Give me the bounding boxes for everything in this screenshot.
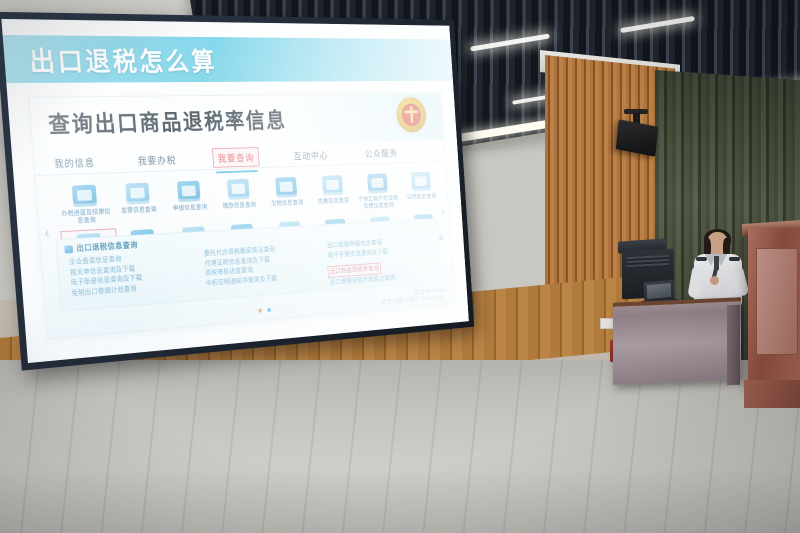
tab-4[interactable]: 公众服务 [360,144,401,162]
service-icon-label: 缴款信息查询 [216,200,263,210]
windows-activation-watermark: 激活 Windows 转到"设置"以激活 Windows。 [381,286,447,305]
service-icon-label: 优惠信息查询 [311,196,355,205]
presenter-hand [710,276,719,285]
service-icon-label: 欠税信息查询 [264,198,310,207]
floor [0,360,800,533]
service-item-0-1[interactable]: 发票信息查询 [111,179,166,217]
tab-0[interactable]: 我的信息 [49,152,100,172]
service-icon [227,179,250,200]
service-item-0-5[interactable]: 优惠信息查询 [309,172,357,207]
service-item-0-3[interactable]: 缴款信息查询 [213,175,264,211]
presenter-table [613,297,741,385]
wall-outlet [600,318,614,329]
sub-panel-column-0: 企业备案信息查询报关单信息查询及下载电子账册信息查询及下载免税出口卷烟计划查询 [67,250,197,308]
service-icon [126,183,151,205]
service-icon [72,185,97,207]
presenter-epaulette-right [729,257,740,261]
service-icon-label: 申报信息查询 [165,202,214,212]
service-icon [275,177,297,198]
service-icon-label: 办税进度及结果信息查询 [60,207,113,225]
page-title: 查询出口商品退税率信息 [47,103,287,140]
carousel-prev-arrow[interactable]: ‹ [43,224,51,244]
carousel-next-arrow[interactable]: › [440,204,446,221]
carousel-dot-0[interactable] [258,309,262,313]
podium-front-panel [756,248,798,355]
service-item-0-6[interactable]: 个体工商户社会保险费信息查询 [354,170,401,212]
service-item-0-0[interactable]: 办税进度及结果信息查询 [57,181,114,227]
conference-room-scene: 出口退税怎么算 查询出口商品退税率信息 我的信息我要办税我要查询互动中心公众服务… [0,0,800,533]
emblem-inner-mark [401,103,422,126]
tab-2[interactable]: 我要查询 [212,147,260,168]
portal-card: 查询出口商品退税率信息 我的信息我要办税我要查询互动中心公众服务 办税进度及结果… [28,93,455,340]
slide-banner: 出口退税怎么算 [3,35,453,83]
service-item-0-2[interactable]: 申报信息查询 [163,177,216,214]
tax-bureau-emblem-icon [395,97,427,132]
sub-panel-column-1: 委托代办退税备案情况查询代理证明信息查询及下载退税审核进度查询中标证明通知书查询… [202,242,321,297]
service-icon [367,173,388,193]
screen-surface: 出口退税怎么算 查询出口商品退税率信息 我的信息我要办税我要查询互动中心公众服务… [1,19,468,363]
folder-icon [64,245,73,253]
service-icon [177,181,201,203]
service-icon [410,172,430,192]
slide-content: 出口退税怎么算 查询出口商品退税率信息 我的信息我要办税我要查询互动中心公众服务… [1,19,468,363]
screen-frame: 出口退税怎么算 查询出口商品退税率信息 我的信息我要办税我要查询互动中心公众服务… [0,12,474,371]
service-icon-label: 证明状态查询 [401,192,443,201]
tab-3[interactable]: 互动中心 [289,145,333,163]
carousel-dot-1[interactable] [267,308,270,312]
tab-1[interactable]: 我要办税 [133,150,181,170]
service-item-0-7[interactable]: 证明状态查询 [398,169,443,203]
slide-banner-title: 出口退税怎么算 [28,40,218,79]
presenter-epaulette-left [696,257,707,261]
projection-screen: 出口退税怎么算 查询出口商品退税率信息 我的信息我要办税我要查询互动中心公众服务… [0,12,474,371]
service-icon-label: 发票信息查询 [113,205,164,215]
service-item-0-4[interactable]: 欠税信息查询 [262,174,311,210]
podium-base [744,380,800,408]
sub-panel-column-2: 出口退税申报信息查询电子手册信息查询及下载出口商品退税率查询出口退税证明开具情况… [325,235,434,287]
service-icon-label: 个体工商户社会保险费信息查询 [357,194,400,210]
service-icon [322,175,343,196]
table-leg [727,305,740,385]
